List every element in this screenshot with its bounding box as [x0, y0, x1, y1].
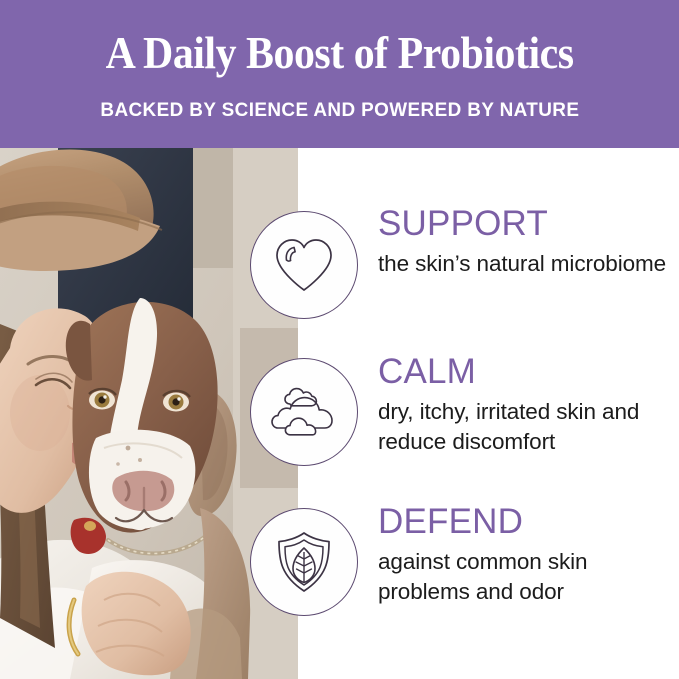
probiotics-product-banner: A Daily Boost of Probiotics BACKED BY SC… — [0, 0, 679, 679]
heart-icon — [273, 236, 335, 294]
shield-leaf-icon — [273, 530, 335, 594]
benefit-description-defend: against common skin problems and odor — [378, 547, 676, 607]
page-title: A Daily Boost of Probiotics — [106, 31, 574, 76]
benefit-defend: DEFEND against common skin problems and … — [378, 502, 676, 607]
clouds-icon — [270, 384, 338, 440]
benefit-description-support: the skin’s natural microbiome — [378, 249, 676, 279]
page-subtitle: BACKED BY SCIENCE AND POWERED BY NATURE — [100, 99, 579, 122]
benefit-title-defend: DEFEND — [378, 502, 676, 542]
benefit-title-support: SUPPORT — [378, 204, 676, 244]
benefit-icon-circle-support — [250, 211, 358, 319]
benefit-support: SUPPORT the skin’s natural microbiome — [378, 204, 676, 279]
benefit-icon-circle-calm — [250, 358, 358, 466]
banner-header: A Daily Boost of Probiotics BACKED BY SC… — [0, 0, 679, 148]
benefit-calm: CALM dry, itchy, irritated skin and redu… — [378, 352, 676, 457]
benefit-description-calm: dry, itchy, irritated skin and reduce di… — [378, 397, 676, 457]
benefit-icon-circle-defend — [250, 508, 358, 616]
benefit-title-calm: CALM — [378, 352, 676, 392]
